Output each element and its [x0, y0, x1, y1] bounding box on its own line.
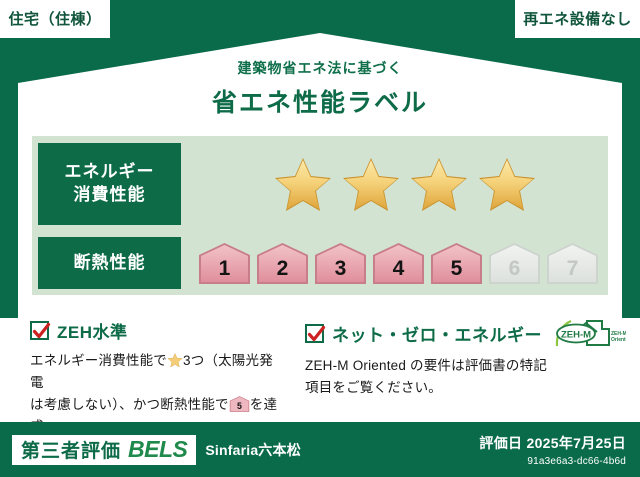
- label-title-block: 建築物省エネ法に基づく 省エネ性能ラベル: [0, 58, 640, 119]
- insulation-level-house-icon: 5: [429, 241, 484, 286]
- insulation-level-house-icon-inactive: 7: [545, 241, 600, 286]
- net-zero-body-line1: ZEH-M Oriented の要件は評価書の特記: [305, 358, 547, 373]
- zeh-m-badge-text: ZEH-M: [561, 330, 591, 341]
- evaluation-date: 評価日 2025年7月25日: [479, 433, 626, 453]
- inline-house-icon: 5: [229, 395, 250, 413]
- zeh-body-part2: は考慮しない）、かつ断熱性能で: [30, 397, 229, 412]
- checkbox-checked-icon: [305, 324, 324, 343]
- bels-japanese-label: 第三者評価: [21, 436, 121, 463]
- insulation-level-house-icon: 4: [371, 241, 426, 286]
- insulation-performance-label-box: 断熱性能: [38, 237, 181, 289]
- notes-section: ZEH水準 エネルギー消費性能で3つ（太陽光発電 は考慮しない）、かつ断熱性能で…: [0, 318, 640, 422]
- insulation-level-number: 6: [509, 257, 521, 280]
- insulation-level-number: 1: [219, 257, 231, 280]
- net-zero-energy-body: ZEH-M Oriented の要件は評価書の特記 項目をご覧ください。: [305, 355, 626, 399]
- net-zero-body-line2: 項目をご覧ください。: [305, 380, 442, 395]
- net-zero-energy-note: ネット・ゼロ・エネルギー ZEH-M ZEH-M Oriented ZEH-M …: [295, 318, 640, 422]
- checkbox-checked-icon: [30, 321, 49, 340]
- insulation-level-number: 4: [393, 257, 405, 280]
- insulation-level-scale: 1 2 3 4: [181, 241, 608, 286]
- insulation-level-house-icon: 3: [313, 241, 368, 286]
- label-subtitle: 建築物省エネ法に基づく: [0, 58, 640, 78]
- inline-house-level: 5: [237, 400, 242, 410]
- evaluation-info: 評価日 2025年7月25日 91a3e6a3-dc66-4b6d: [479, 433, 626, 467]
- star-icon: [341, 155, 401, 213]
- zeh-standard-title: ZEH水準: [57, 318, 128, 343]
- insulation-level-house-icon-inactive: 6: [487, 241, 542, 286]
- building-type-tag: 住宅（住棟）: [0, 0, 110, 38]
- zeh-body-part1: エネルギー消費性能で: [30, 353, 167, 368]
- energy-star-rating: [181, 155, 608, 213]
- footer-bar: 第三者評価 BELS Sinfaria六本松 評価日 2025年7月25日 91…: [0, 422, 640, 477]
- bels-certification-chip: 第三者評価 BELS: [12, 435, 196, 465]
- zeh-standard-heading: ZEH水準: [30, 318, 281, 343]
- energy-label-line1: エネルギー: [65, 161, 155, 184]
- insulation-level-house-icon: 1: [197, 241, 252, 286]
- insulation-label-line1: 断熱性能: [74, 252, 146, 275]
- insulation-level-number: 5: [451, 257, 463, 280]
- energy-performance-label-box: エネルギー 消費性能: [38, 143, 181, 225]
- zeh-m-badge-sub2: Oriented: [611, 337, 626, 343]
- page-title: 省エネ性能ラベル: [0, 83, 640, 119]
- insulation-level-house-icon: 2: [255, 241, 310, 286]
- star-icon: [273, 155, 333, 213]
- inline-star-icon: [167, 352, 183, 368]
- star-icon: [477, 155, 537, 213]
- net-zero-energy-title: ネット・ゼロ・エネルギー: [332, 321, 542, 346]
- insulation-level-number: 3: [335, 257, 347, 280]
- building-name: Sinfaria六本松: [205, 440, 301, 460]
- energy-label-line2: 消費性能: [74, 184, 146, 207]
- evaluation-id: 91a3e6a3-dc66-4b6d: [479, 456, 626, 467]
- renewable-energy-tag: 再エネ設備なし: [515, 0, 640, 38]
- net-zero-energy-heading: ネット・ゼロ・エネルギー ZEH-M ZEH-M Oriented: [305, 318, 626, 348]
- star-icon: [409, 155, 469, 213]
- insulation-level-number: 7: [567, 257, 579, 280]
- energy-performance-row: エネルギー 消費性能: [32, 136, 608, 231]
- insulation-level-number: 2: [277, 257, 289, 280]
- energy-performance-label: 住宅（住棟） 再エネ設備なし 建築物省エネ法に基づく 省エネ性能ラベル エネルギ…: [0, 0, 640, 477]
- bels-logo-text: BELS: [128, 436, 187, 463]
- zeh-standard-note: ZEH水準 エネルギー消費性能で3つ（太陽光発電 は考慮しない）、かつ断熱性能で…: [0, 318, 295, 422]
- zeh-m-logo-icon: ZEH-M ZEH-M Oriented: [554, 318, 626, 348]
- rating-panel: エネルギー 消費性能: [32, 136, 608, 295]
- insulation-performance-row: 断熱性能 1: [32, 231, 608, 295]
